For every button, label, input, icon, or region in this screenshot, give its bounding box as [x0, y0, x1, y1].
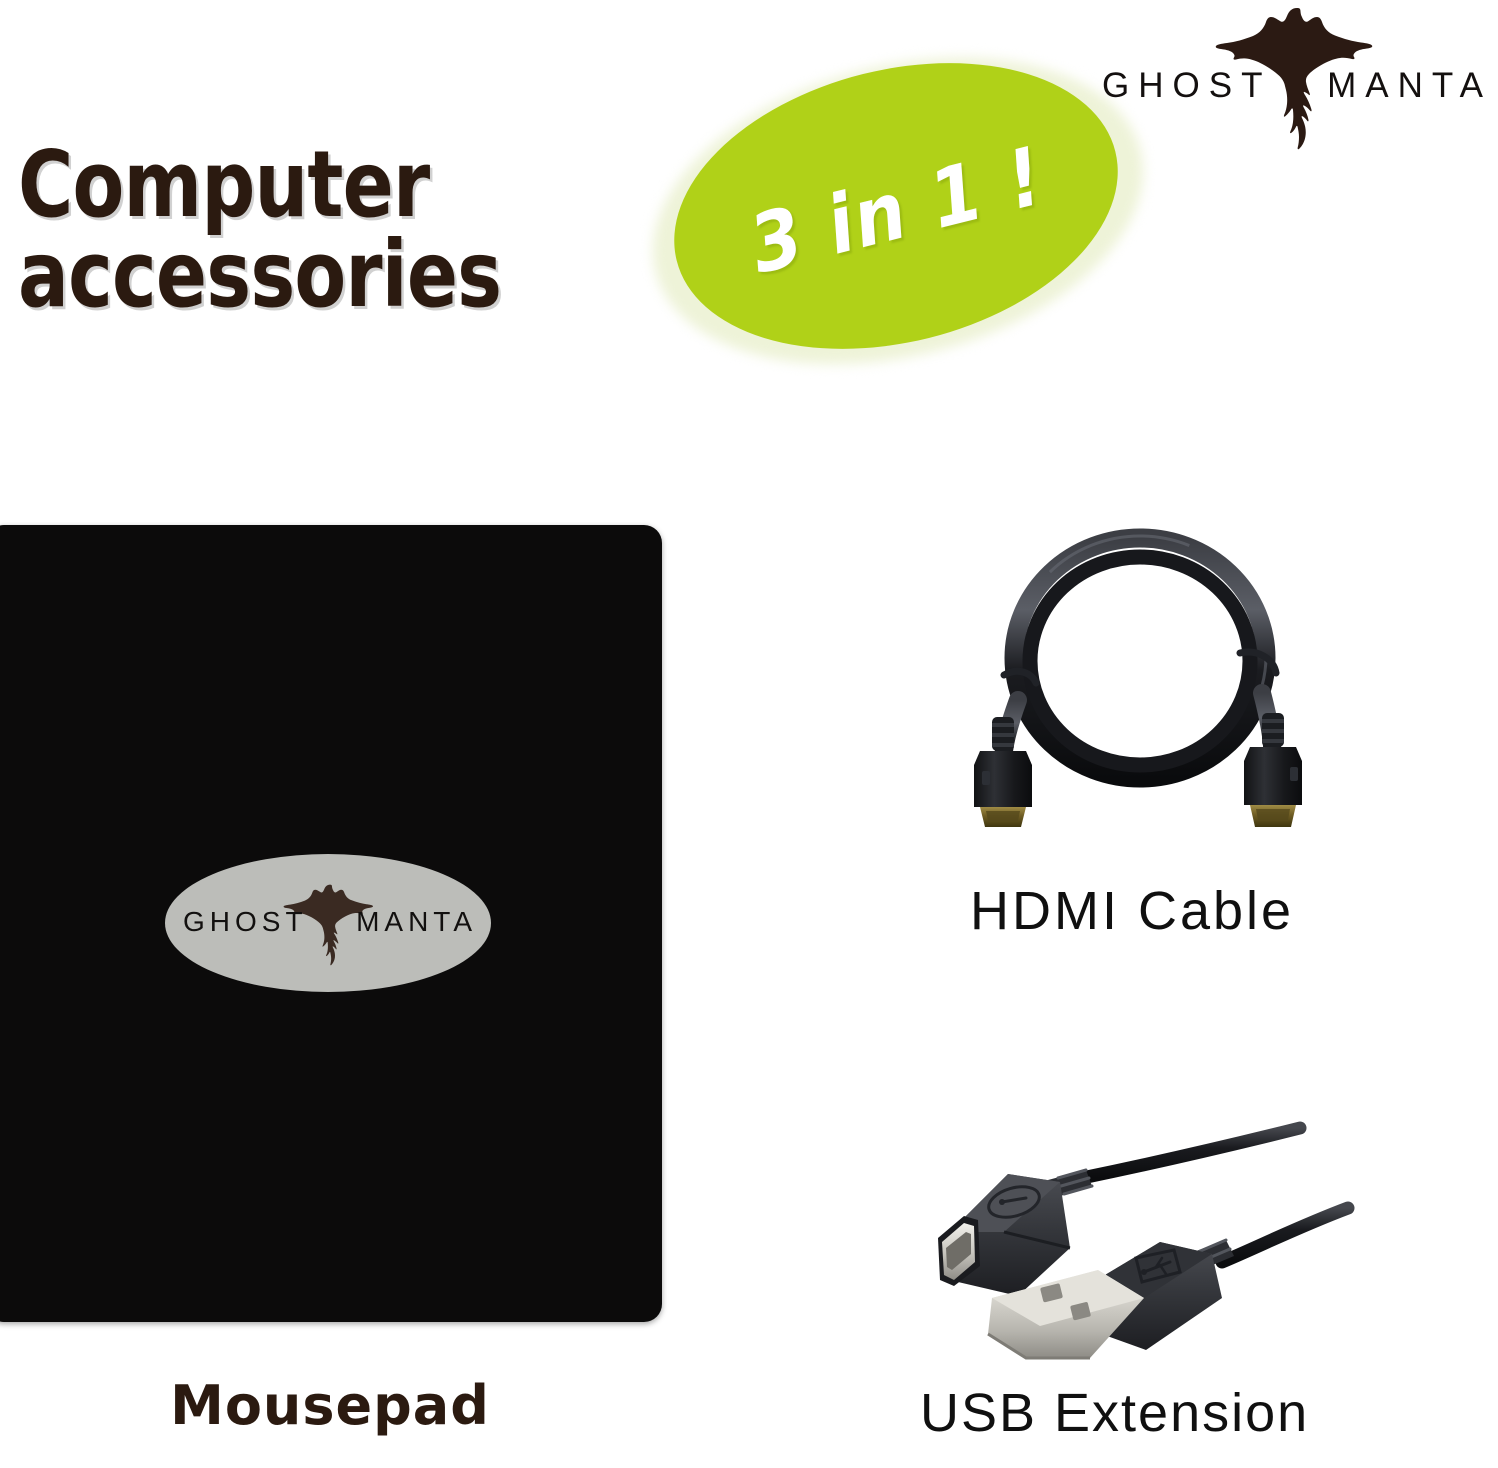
mousepad-brand-word-manta: MANTA: [356, 906, 477, 938]
brand-word-ghost: GHOST: [1102, 66, 1271, 106]
badge-text-wrap: 3 in 1 !: [644, 19, 1148, 392]
mousepad-brand-word-ghost: GHOST: [183, 906, 308, 938]
hdmi-cable-product: [940, 525, 1340, 875]
brand-word-manta: MANTA: [1327, 66, 1492, 106]
usb-female-connector: [938, 1170, 1092, 1296]
mousepad-logo-badge: GHOST MANTA: [165, 854, 491, 992]
caption-hdmi-cable: HDMI Cable: [830, 880, 1498, 942]
caption-mousepad: Mousepad: [0, 1374, 660, 1437]
product-marketing-image: Computer accessories 3 in 1 ! GHOST MANT…: [0, 0, 1498, 1468]
three-in-one-badge: 3 in 1 !: [640, 52, 1160, 362]
hdmi-connector-right: [1244, 713, 1302, 827]
page-title: Computer accessories: [18, 140, 592, 320]
brand-logo: GHOST MANTA: [1096, 2, 1492, 152]
mousepad-product: GHOST MANTA: [0, 525, 662, 1322]
hdmi-connector-left: [974, 717, 1032, 827]
caption-usb-extension: USB Extension: [830, 1382, 1498, 1444]
usb-extension-product: [930, 1120, 1360, 1380]
badge-label: 3 in 1 !: [741, 129, 1053, 291]
